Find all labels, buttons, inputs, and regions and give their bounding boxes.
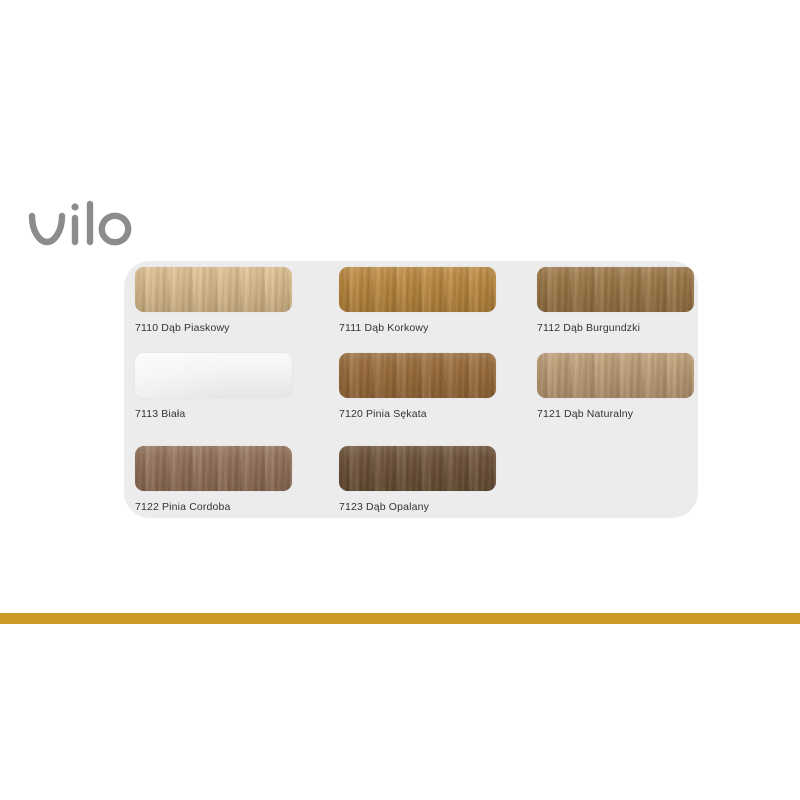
- swatch-item[interactable]: 7110 Dąb Piaskowy: [135, 267, 292, 335]
- swatch-chip-7122[interactable]: [135, 446, 292, 491]
- swatch-label: 7120 Pinia Sękata: [339, 408, 496, 421]
- colour-sample-card: 7110 Dąb Piaskowy7111 Dąb Korkowy7112 Dą…: [124, 261, 698, 518]
- vilo-wordmark-icon: [26, 198, 136, 250]
- wood-grain-layer: [135, 267, 292, 312]
- swatch-label: 7113 Biała: [135, 408, 292, 421]
- wood-grain-layer: [339, 353, 496, 398]
- wood-grain-layer: [135, 353, 292, 398]
- swatch-chip-7112[interactable]: [537, 267, 694, 312]
- wood-grain-layer: [135, 446, 292, 491]
- wood-grain-layer: [537, 353, 694, 398]
- wood-grain-layer: [135, 267, 292, 312]
- wood-grain-layer: [537, 267, 694, 312]
- swatch-item[interactable]: 7123 Dąb Opalany: [339, 446, 496, 514]
- wood-grain-layer: [339, 353, 496, 398]
- wood-grain-layer: [537, 267, 694, 312]
- swatch-chip-7121[interactable]: [537, 353, 694, 398]
- wood-grain-layer: [339, 446, 496, 491]
- swatch-item[interactable]: 7112 Dąb Burgundzki: [537, 267, 694, 335]
- wood-grain-layer: [339, 267, 496, 312]
- wood-grain-layer: [339, 446, 496, 491]
- swatch-chip-7113[interactable]: [135, 353, 292, 398]
- wood-grain-layer: [135, 446, 292, 491]
- swatch-label: 7110 Dąb Piaskowy: [135, 322, 292, 335]
- wood-grain-layer: [537, 353, 694, 398]
- wood-grain-layer: [339, 353, 496, 398]
- swatch-grid: 7110 Dąb Piaskowy7111 Dąb Korkowy7112 Dą…: [124, 261, 698, 518]
- bottom-accent-bar: [0, 613, 800, 624]
- swatch-item[interactable]: 7121 Dąb Naturalny: [537, 353, 694, 421]
- swatch-label: 7121 Dąb Naturalny: [537, 408, 694, 421]
- swatch-item[interactable]: 7120 Pinia Sękata: [339, 353, 496, 421]
- swatch-label: 7122 Pinia Cordoba: [135, 501, 292, 514]
- swatch-chip-7120[interactable]: [339, 353, 496, 398]
- wood-grain-layer: [135, 446, 292, 491]
- swatch-label: 7111 Dąb Korkowy: [339, 322, 496, 335]
- swatch-chip-7123[interactable]: [339, 446, 496, 491]
- swatch-label: 7112 Dąb Burgundzki: [537, 322, 694, 335]
- wood-grain-layer: [135, 353, 292, 398]
- swatch-item[interactable]: 7122 Pinia Cordoba: [135, 446, 292, 514]
- wood-grain-layer: [537, 353, 694, 398]
- wood-grain-layer: [537, 267, 694, 312]
- wood-grain-layer: [339, 267, 496, 312]
- wood-grain-layer: [339, 267, 496, 312]
- vilo-logo: [26, 198, 136, 250]
- wood-grain-layer: [339, 446, 496, 491]
- swatch-chip-7110[interactable]: [135, 267, 292, 312]
- swatch-item[interactable]: 7113 Biała: [135, 353, 292, 421]
- swatch-label: 7123 Dąb Opalany: [339, 501, 496, 514]
- wood-grain-layer: [135, 353, 292, 398]
- wood-grain-layer: [135, 267, 292, 312]
- swatch-item[interactable]: 7111 Dąb Korkowy: [339, 267, 496, 335]
- swatch-chip-7111[interactable]: [339, 267, 496, 312]
